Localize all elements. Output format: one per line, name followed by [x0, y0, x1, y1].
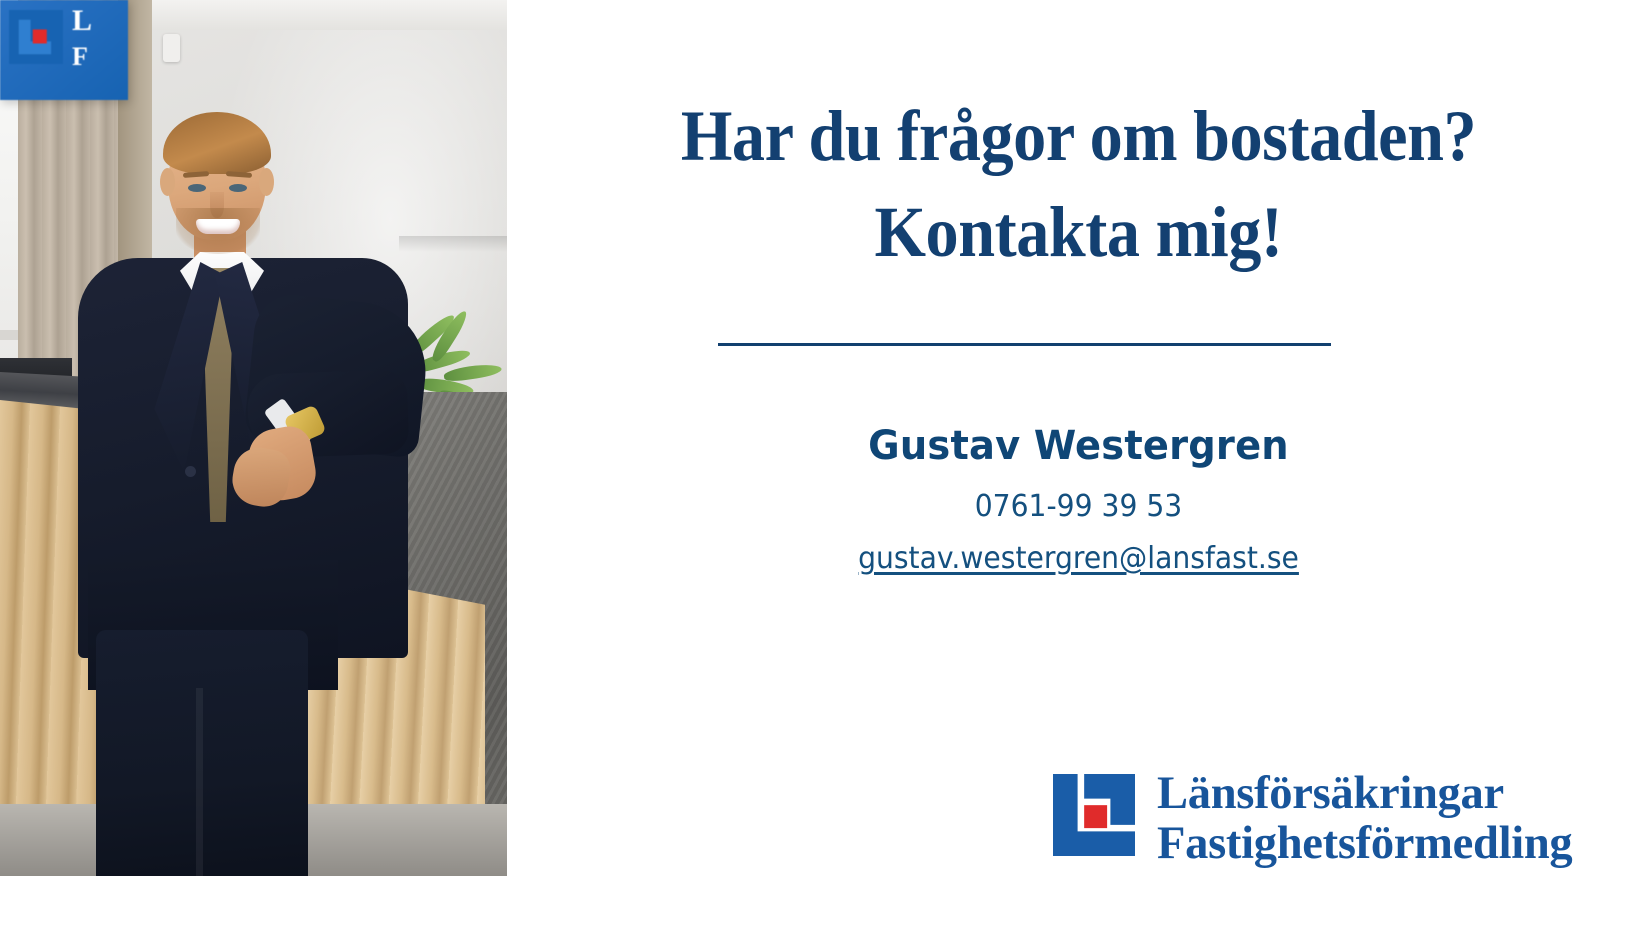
- agent-name: Gustav Westergren: [530, 420, 1627, 472]
- ear-right: [259, 168, 274, 196]
- content-area: Har du frågor om bostaden? Kontakta mig!…: [507, 0, 1650, 928]
- agent-portrait-photo: L F: [0, 0, 507, 876]
- photo-scene: L F: [0, 0, 507, 876]
- brand-line-2: Fastighetsförmedling: [1157, 818, 1572, 868]
- divider-rule: [718, 343, 1331, 346]
- contact-slide: L F: [0, 0, 1650, 928]
- hair: [163, 112, 271, 174]
- trouser-gap: [196, 688, 203, 876]
- ear-left: [160, 168, 175, 196]
- eye-left: [188, 184, 206, 192]
- headline-line-1: Har du frågor om bostaden?: [553, 88, 1605, 184]
- jacket-button: [185, 466, 196, 477]
- photo-bottom-margin: [0, 876, 507, 928]
- mouth: [196, 219, 240, 234]
- brand-logo: Länsförsäkringar Fastighetsförmedling: [1053, 768, 1577, 868]
- agent-phone[interactable]: 0761-99 39 53: [541, 487, 1615, 527]
- agent-figure: [0, 0, 507, 876]
- lansforsakringar-logo-mark: [1053, 774, 1135, 856]
- brand-wordmark: Länsförsäkringar Fastighetsförmedling: [1157, 768, 1572, 868]
- brand-line-1: Länsförsäkringar: [1157, 768, 1572, 818]
- eye-right: [229, 184, 247, 192]
- agent-email-link[interactable]: gustav.westergren@lansfast.se: [541, 539, 1615, 579]
- headline-line-2: Kontakta mig!: [553, 184, 1605, 280]
- headline: Har du frågor om bostaden? Kontakta mig!: [553, 88, 1605, 280]
